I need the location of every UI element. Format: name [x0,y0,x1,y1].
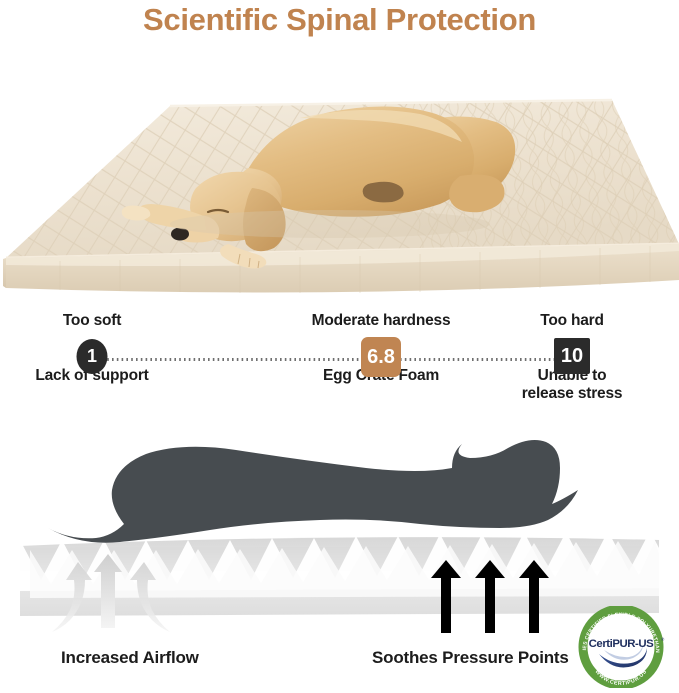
pressure-arrows [431,560,549,633]
page-title: Scientific Spinal Protection [0,2,679,38]
firmness-scale: Too soft 1 Lack of support Moderate hard… [0,312,679,422]
firmness-hard-badge: 10 [554,338,590,374]
dog-bed-mattress-photo [0,48,679,298]
dog-silhouette [48,440,578,543]
certipur-trademark-icon: ® [661,637,665,642]
caption-increased-airflow: Increased Airflow [61,648,199,668]
firmness-hard-bottom-line2: release stress [522,385,623,402]
firmness-moderate-badge: 6.8 [361,337,401,377]
firmness-hard-top-label: Too hard [540,312,604,330]
certipur-us-logo: COMPANIES CERTIFIED FLEXIBLE POLYURETHAN… [573,606,669,688]
product-infographic: Scientific Spinal Protection [0,0,679,693]
caption-soothes-pressure-points: Soothes Pressure Points [372,648,569,668]
certipur-brand-text: CertiPUR-US [589,638,655,650]
firmness-soft-badge: 1 [77,339,108,374]
